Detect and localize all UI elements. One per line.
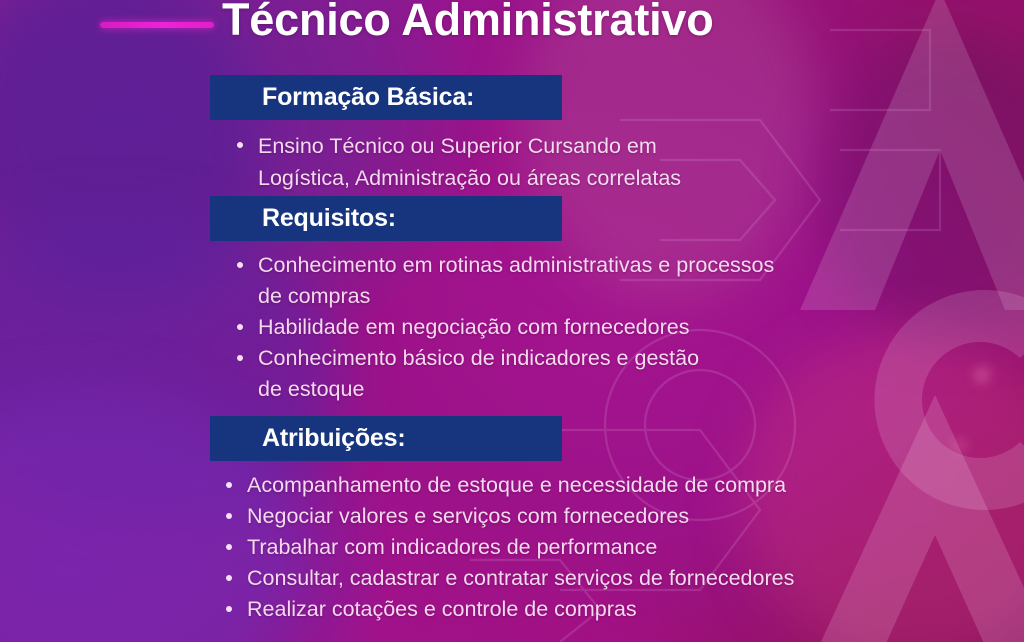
list-item: Conhecimento em rotinas administrativas … — [228, 250, 774, 312]
section-heading-requisitos: Requisitos: — [210, 204, 396, 233]
slide-canvas: Técnico Administrativo Formação Básica: … — [0, 0, 1024, 642]
bullet-list-atribuicoes: Acompanhamento de estoque e necessidade … — [217, 470, 794, 625]
section-formacao-basica: Formação Básica: Ensino Técnico ou Super… — [210, 75, 681, 194]
watermark-letter-a-bottom — [800, 380, 1024, 642]
section-heading-atribuicoes: Atribuições: — [210, 424, 405, 453]
list-item: Habilidade em negociação com fornecedore… — [228, 312, 774, 343]
list-item: Consultar, cadastrar e contratar serviço… — [217, 563, 794, 594]
section-header-box-requisitos: Requisitos: — [210, 196, 562, 241]
bullet-list-formacao: Ensino Técnico ou Superior Cursando em L… — [228, 130, 681, 194]
list-item: Acompanhamento de estoque e necessidade … — [217, 470, 794, 501]
section-heading-formacao: Formação Básica: — [210, 83, 474, 112]
section-header-box-formacao: Formação Básica: — [210, 75, 562, 120]
list-item: Negociar valores e serviços com forneced… — [217, 501, 794, 532]
accent-dash-icon — [100, 22, 214, 28]
page-title: Técnico Administrativo — [222, 0, 714, 46]
list-item: Ensino Técnico ou Superior Cursando em L… — [228, 130, 681, 194]
section-atribuicoes: Atribuições: Acompanhamento de estoque e… — [210, 416, 794, 625]
title-row: Técnico Administrativo — [0, 0, 1024, 56]
section-header-box-atribuicoes: Atribuições: — [210, 416, 562, 461]
list-item: Conhecimento básico de indicadores e ges… — [228, 343, 774, 405]
list-item: Trabalhar com indicadores de performance — [217, 532, 794, 563]
list-item: Realizar cotações e controle de compras — [217, 594, 794, 625]
bullet-list-requisitos: Conhecimento em rotinas administrativas … — [228, 250, 774, 405]
section-requisitos: Requisitos: Conhecimento em rotinas admi… — [210, 196, 774, 405]
